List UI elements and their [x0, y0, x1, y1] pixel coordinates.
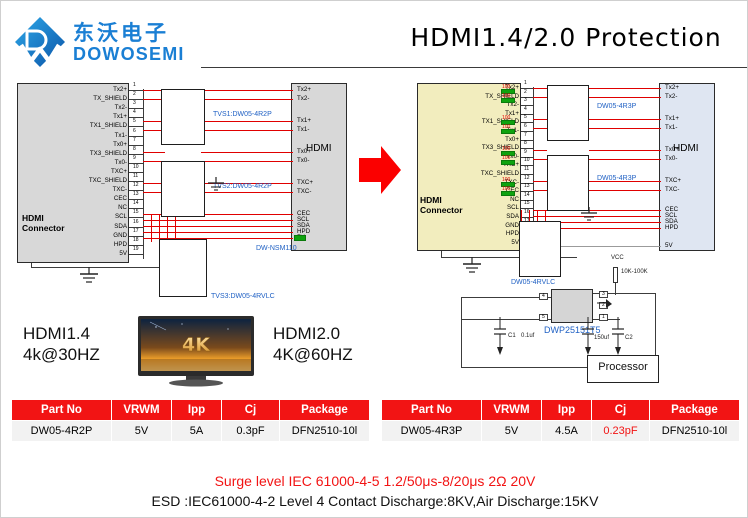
- rpin-label-scl: SCL: [427, 205, 519, 211]
- series-resistor-label-0: 100: [502, 84, 510, 90]
- td-1: 5V: [112, 421, 172, 442]
- td-4: DFN2510-10l: [280, 421, 370, 442]
- out-wire-1: [259, 99, 293, 100]
- rpin-lead-5: [521, 122, 533, 123]
- rout-pin-hpd: HPD: [665, 225, 678, 231]
- rpin-number-1: 1: [524, 81, 527, 86]
- left-circuit-diagram: HDMI Connector HDMI Tx2+1TX_SHIELD2Tx2-3…: [1, 71, 357, 311]
- series-resistor-label-3: 100: [502, 124, 510, 130]
- pin-label-gnd: GND: [37, 233, 127, 239]
- series-resistor-label-5: 100: [502, 155, 510, 161]
- right-table-data-row: DW05-4R3P5V4.5A0.23pFDFN2510-10l: [382, 421, 740, 442]
- series-resistor-label-4: 100: [502, 146, 510, 152]
- transition-arrow-icon: [357, 144, 403, 196]
- tvs3-drop-0: [151, 214, 152, 242]
- pin-label-tx0-: Tx0-: [37, 160, 127, 166]
- hdmi20-caption: HDMI2.0 4K@60HZ: [273, 323, 353, 365]
- proc-bottom-rail: [461, 367, 587, 368]
- th-2: Ipp: [172, 400, 222, 421]
- td-4: DFN2510-10l: [650, 421, 740, 442]
- rpin-number-5: 5: [524, 115, 527, 120]
- rsig-out-7: [589, 190, 629, 191]
- pin-number-17: 17: [133, 229, 139, 234]
- lowspeed-wire-3: [143, 232, 293, 233]
- pin-number-5: 5: [133, 119, 136, 124]
- rsig-in-5: [533, 159, 547, 160]
- u3-package: [519, 221, 561, 277]
- sig-wire-out-0: [201, 90, 261, 91]
- u1-package: [547, 85, 589, 141]
- th-1: VRWM: [112, 400, 172, 421]
- th-0: Part No: [12, 400, 112, 421]
- th-3: Cj: [222, 400, 280, 421]
- pin-label-tx1-: Tx1-: [37, 133, 127, 139]
- th-1: VRWM: [482, 400, 542, 421]
- rsig-out-3: [589, 128, 629, 129]
- processor-label: Processor: [587, 361, 659, 373]
- pin-number-9: 9: [133, 156, 136, 161]
- series-resistor-label-1: 100: [502, 93, 510, 99]
- tvs3-drop-1: [159, 214, 160, 242]
- pin-label-txc+: TXC+: [37, 169, 127, 175]
- pin-number-14: 14: [133, 201, 139, 206]
- brand-logo: 东沃电子 DOWOSEMI: [9, 13, 209, 69]
- td-2: 5A: [172, 421, 222, 442]
- pin-number-18: 18: [133, 238, 139, 243]
- u4-pin-4: 4: [539, 293, 548, 300]
- rpin-number-14: 14: [524, 193, 530, 198]
- rout-pin-tx0+: Tx0+: [665, 147, 679, 153]
- pin-number-11: 11: [133, 174, 138, 179]
- td-0: DW05-4R2P: [12, 421, 112, 442]
- lowspeed-wire-2: [143, 226, 293, 227]
- pin-number-4: 4: [133, 110, 136, 115]
- rsig-out-5: [589, 159, 629, 160]
- right-ground-symbol-2-icon: [579, 207, 599, 223]
- rpin-label-sda: SDA: [427, 214, 519, 220]
- pin-label-tx_shield: TX_SHIELD: [37, 96, 127, 102]
- th-4: Package: [280, 400, 370, 421]
- rpin-lead-6: [521, 131, 533, 132]
- gnd-stub-left: [31, 263, 32, 268]
- pin-number-13: 13: [133, 192, 139, 197]
- rsig-in-0: [533, 88, 547, 89]
- c2-ref-label: C2: [625, 335, 633, 341]
- rsig-in-1: [533, 97, 547, 98]
- left-ground-symbol-2-icon: [206, 177, 226, 193]
- rpin-number-4: 4: [524, 107, 527, 112]
- rsig-out-2: [589, 119, 629, 120]
- rpin-number-9: 9: [524, 150, 527, 155]
- tvs3-label: TVS3:DW05-4RVLC: [211, 293, 275, 300]
- proc-left-rail: [461, 297, 462, 367]
- pin-number-6: 6: [133, 129, 136, 134]
- sig-wire-out-5: [201, 161, 261, 162]
- header-divider: [201, 67, 747, 68]
- rsig-in-7: [533, 190, 547, 191]
- rsig-in-4: [533, 150, 547, 151]
- enable-arrow-icon: [597, 299, 613, 311]
- u1-label: DW05-4R3P: [597, 103, 636, 110]
- rpin-label-tx2-: Tx2-: [427, 102, 519, 108]
- capacitor-c1-symbol-icon: [493, 317, 507, 357]
- sig-wire-4: [143, 152, 165, 153]
- pin-label-tx2+: Tx2+: [37, 87, 127, 93]
- out-pin-tx2+: Tx2+: [297, 87, 311, 93]
- pin-label-tx3_shield: TX3_SHIELD: [37, 151, 127, 157]
- u4-in-wire: [461, 297, 551, 298]
- left-spec-table: Part NoVRWMIppCjPackage DW05-4R2P5V5A0.3…: [11, 399, 370, 442]
- rout-pin-tx2-: Tx2-: [665, 94, 677, 100]
- sig-wire-out-1: [201, 99, 261, 100]
- rpin-number-10: 10: [524, 158, 530, 163]
- rsig-out-1: [589, 97, 629, 98]
- pin-number-1: 1: [133, 83, 136, 88]
- rout-pin-tx1+: Tx1+: [665, 116, 679, 122]
- rsig-out-0: [589, 88, 629, 89]
- rpin-label-hpd: HPD: [427, 231, 519, 237]
- th-2: Ipp: [542, 400, 592, 421]
- pin-number-3: 3: [133, 101, 136, 106]
- rpin-number-11: 11: [524, 167, 529, 172]
- pin-lead-19: [129, 254, 143, 255]
- rpin-number-15: 15: [524, 201, 530, 206]
- sig-wire-out-4: [201, 152, 261, 153]
- rout-pin-tx1-: Tx1-: [665, 125, 677, 131]
- pin-number-12: 12: [133, 183, 139, 188]
- pin-label-tx2-: Tx2-: [37, 105, 127, 111]
- rsig-out-4: [589, 150, 629, 151]
- pin-label-txc-: TXC-: [37, 187, 127, 193]
- rpin-number-8: 8: [524, 141, 527, 146]
- logo-chinese-text: 东沃电子: [73, 17, 169, 47]
- sig-wire-out-2: [201, 121, 261, 122]
- rpin-lead-1: [521, 88, 533, 89]
- pin-number-7: 7: [133, 138, 136, 143]
- rpin-number-3: 3: [524, 98, 527, 103]
- u3-label: DW05-4RVLC: [511, 279, 555, 286]
- nsm110-label: DW-NSM110: [256, 245, 297, 252]
- pin-label-tx0+: Tx0+: [37, 142, 127, 148]
- out-wire-2: [259, 121, 293, 122]
- rpin-number-7: 7: [524, 133, 527, 138]
- pin-lead-2: [129, 99, 143, 100]
- out-pin-tx1+: Tx1+: [297, 118, 311, 124]
- capacitor-c2a-symbol-icon: [581, 317, 595, 357]
- rout-pin-5v: 5V: [665, 243, 673, 249]
- right-spec-table: Part NoVRWMIppCjPackage DW05-4R3P5V4.5A0…: [381, 399, 740, 442]
- pin-label-tx1+: Tx1+: [37, 114, 127, 120]
- out-wire-3: [259, 130, 293, 131]
- rpin-number-13: 13: [524, 184, 530, 189]
- surge-level-note: Surge level IEC 61000-4-5 1.2/50μs-8/20μ…: [1, 473, 748, 489]
- u4-out-drop: [655, 293, 656, 359]
- television-4k-image-icon: 4K: [136, 315, 256, 387]
- series-resistor-label-6: 100: [502, 177, 510, 183]
- td-0: DW05-4R3P: [382, 421, 482, 442]
- pin-label-nc: NC: [37, 205, 127, 211]
- out-wire-7: [259, 192, 293, 193]
- u4-pin-1: 1: [599, 314, 608, 321]
- right-table-header-row: Part NoVRWMIppCjPackage: [382, 400, 740, 421]
- tvs3-drop-2: [167, 214, 168, 242]
- tvs3-package: [159, 239, 207, 297]
- right-circuit-diagram: HDMI Connector HDMI Tx2+1TX_SHIELD2Tx2-3…: [401, 71, 748, 389]
- out-pin-tx0+: Tx0+: [297, 149, 311, 155]
- vcc-label: VCC: [611, 255, 624, 261]
- th-0: Part No: [382, 400, 482, 421]
- pin-lead-7: [129, 145, 143, 146]
- c1-value-label: 0.1uf: [521, 333, 534, 339]
- tvs2-package: [161, 161, 205, 217]
- sig-wire-out-3: [201, 130, 261, 131]
- pin-label-scl: SCL: [37, 214, 127, 220]
- tvs1-package: [161, 89, 205, 145]
- series-resistor-label-2: 100: [502, 115, 510, 121]
- rout-wire-0: [627, 88, 661, 89]
- rpin-lead-8: [521, 148, 533, 149]
- series-resistor-label-7: 100: [502, 186, 510, 192]
- out-pin-tx1-: Tx1-: [297, 127, 309, 133]
- th-3: Cj: [592, 400, 650, 421]
- rpin-label-gnd: GND: [427, 223, 519, 229]
- out-wire-4: [259, 152, 293, 153]
- u2-package: [547, 155, 589, 211]
- pullup-resistor-body: [613, 267, 618, 283]
- out-wire-5: [259, 161, 293, 162]
- page-title: HDMI1.4/2.0 Protection: [391, 23, 741, 52]
- rout-wire-3: [627, 128, 661, 129]
- pin-label-cec: CEC: [37, 196, 127, 202]
- right-ground-symbol-icon: [461, 257, 483, 275]
- pin-label-tx1_shield: TX1_SHIELD: [37, 123, 127, 129]
- pin-lead-5: [129, 126, 143, 127]
- rpin-label-nc: NC: [427, 197, 519, 203]
- tvs1-label: TVS1:DW05-4R2P: [213, 111, 272, 118]
- pin-label-sda: SDA: [37, 224, 127, 230]
- rpin-lead-2: [521, 97, 533, 98]
- rout-pin-tx0-: Tx0-: [665, 156, 677, 162]
- pullup-value-label: 10K-100K: [621, 269, 648, 275]
- hdmi14-caption: HDMI1.4 4k@30HZ: [23, 323, 100, 365]
- u4-pin-5: 5: [539, 314, 548, 321]
- rpin-number-12: 12: [524, 176, 530, 181]
- out-pin-txc+: TXC+: [297, 180, 313, 186]
- lowspeed-wire-1: [143, 220, 293, 221]
- rout-pin-tx2+: Tx2+: [665, 85, 679, 91]
- pin-rail: [143, 89, 144, 259]
- svg-text:4K: 4K: [182, 334, 211, 356]
- rpin-number-2: 2: [524, 90, 527, 95]
- rpin-lead-4: [521, 114, 533, 115]
- pin-label-txc_shield: TXC_SHIELD: [37, 178, 127, 184]
- rout-pin-txc-: TXC-: [665, 187, 679, 193]
- logo-english-text: DOWOSEMI: [73, 44, 185, 65]
- u4-pin-3: 3: [599, 291, 608, 298]
- out-pin-tx2-: Tx2-: [297, 96, 309, 102]
- th-4: Package: [650, 400, 740, 421]
- td-3: 0.3pF: [222, 421, 280, 442]
- nsm110-part-body: [294, 235, 306, 241]
- out-wire-0: [259, 90, 293, 91]
- rout-wire-2: [627, 119, 661, 120]
- left-ground-symbol-icon: [77, 267, 101, 285]
- rsig-in-6: [533, 181, 547, 182]
- out-pin-tx0-: Tx0-: [297, 158, 309, 164]
- pin-lead-6: [129, 136, 143, 137]
- rout-wire-1: [627, 97, 661, 98]
- td-3: 0.23pF: [592, 421, 650, 442]
- pin-label-hpd: HPD: [37, 242, 127, 248]
- dowosemi-diamond-logo-icon: [13, 15, 67, 69]
- pin-number-15: 15: [133, 210, 139, 215]
- rsig-in-3: [533, 128, 547, 129]
- left-table-header-row: Part NoVRWMIppCjPackage: [12, 400, 370, 421]
- rpin-label-tx0+: Tx0+: [427, 137, 519, 143]
- c1-ref-label: C1: [508, 333, 516, 339]
- rpin-lead-7: [521, 140, 533, 141]
- rpin-label-5v: 5V: [427, 240, 519, 246]
- rpin-lead-3: [521, 105, 533, 106]
- u2-label: DW05-4R3P: [597, 175, 636, 182]
- pin-number-2: 2: [133, 92, 136, 97]
- rout-wire-7: [627, 190, 661, 191]
- slide-root: 东沃电子 DOWOSEMI HDMI1.4/2.0 Protection HDM…: [0, 0, 748, 518]
- rout-wire-5: [627, 159, 661, 160]
- pin-number-19: 19: [133, 247, 139, 252]
- td-2: 4.5A: [542, 421, 592, 442]
- out-pin-txc-: TXC-: [297, 189, 311, 195]
- pin-number-16: 16: [133, 220, 139, 225]
- rout-pin-txc+: TXC+: [665, 178, 681, 184]
- rpin-number-6: 6: [524, 124, 527, 129]
- pin-lead-8: [129, 154, 143, 155]
- tvs3-drop-3: [175, 214, 176, 242]
- pin-label-5v: 5V: [37, 251, 127, 257]
- left-table-data-row: DW05-4R2P5V5A0.3pFDFN2510-10l: [12, 421, 370, 442]
- c2-value-label: 150uf: [594, 335, 609, 341]
- pin-number-10: 10: [133, 165, 139, 170]
- rout-wire-4: [627, 150, 661, 151]
- pin-lead-1: [129, 90, 143, 91]
- esd-level-note: ESD :IEC61000-4-2 Level 4 Contact Discha…: [1, 493, 748, 509]
- pin-lead-4: [129, 117, 143, 118]
- pin-lead-3: [129, 108, 143, 109]
- rgnd-stub: [441, 251, 442, 258]
- rsig-in-2: [533, 119, 547, 120]
- capacitor-c2-symbol-icon: [611, 317, 625, 357]
- pin-number-8: 8: [133, 147, 136, 152]
- td-1: 5V: [482, 421, 542, 442]
